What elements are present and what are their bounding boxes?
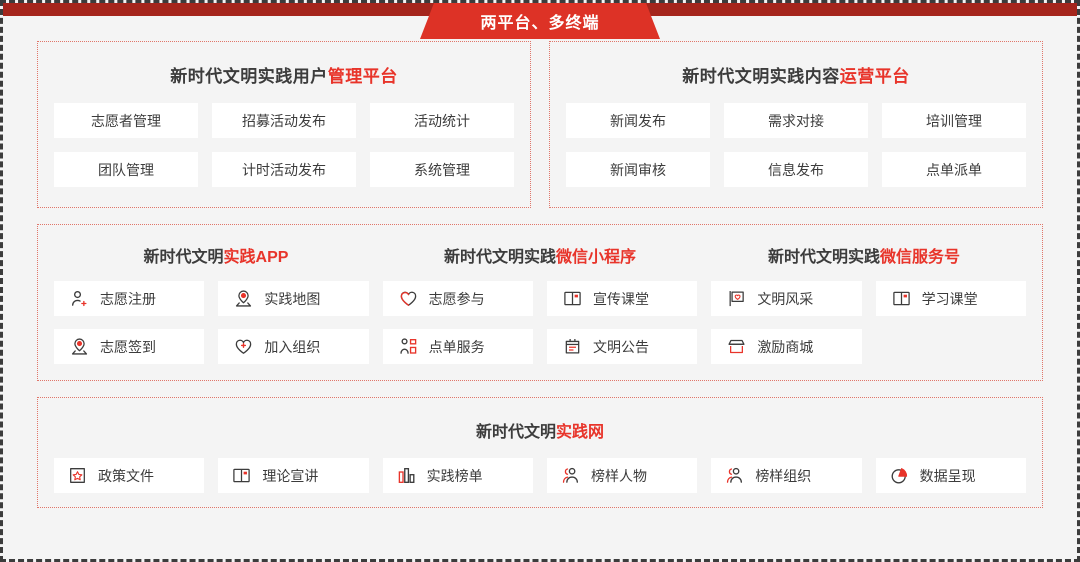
map-pin-icon	[70, 337, 89, 356]
terminal-feature[interactable]: 志愿注册	[54, 281, 204, 316]
terminal-feature-label: 点单服务	[429, 337, 485, 357]
terminal-heading-highlight: 实践APP	[224, 249, 289, 266]
platform-button-row: 团队管理 计时活动发布 系统管理	[54, 152, 514, 187]
website-feature-label: 榜样组织	[755, 466, 811, 486]
terminal-feature-label: 文明公告	[593, 337, 649, 357]
terminal-feature[interactable]: 文明风采	[711, 281, 861, 316]
terminal-heading-app: 新时代文明实践APP	[54, 237, 378, 281]
platform-title-management: 新时代文明实践用户管理平台	[54, 62, 514, 87]
platform-title-plain: 新时代文明实践内容	[682, 67, 840, 86]
bar-chart-icon	[397, 466, 416, 485]
terminal-heading-miniprogram: 新时代文明实践微信小程序	[378, 237, 702, 281]
website-feature-label: 实践榜单	[427, 466, 483, 486]
platform-button[interactable]: 新闻发布	[566, 103, 710, 138]
platforms-row: 新时代文明实践用户管理平台 志愿者管理 招募活动发布 活动统计 团队管理 计时活…	[37, 41, 1043, 208]
terminals-panel: 新时代文明实践APP 新时代文明实践微信小程序 新时代文明实践微信服务号 志愿注…	[37, 224, 1043, 381]
website-feature[interactable]: 数据呈现	[876, 458, 1026, 493]
terminals-headings: 新时代文明实践APP 新时代文明实践微信小程序 新时代文明实践微信服务号	[54, 237, 1026, 281]
flag-heart-icon	[727, 289, 746, 308]
platform-button-row: 志愿者管理 招募活动发布 活动统计	[54, 103, 514, 138]
map-pin-icon	[234, 289, 253, 308]
platform-title-highlight: 运营平台	[840, 67, 910, 86]
poster-canvas: 两平台、多终端 新时代文明实践用户管理平台 志愿者管理 招募活动发布 活动统计 …	[0, 0, 1080, 562]
website-feature[interactable]: 榜样人物	[547, 458, 697, 493]
people-pair-icon	[561, 466, 580, 485]
open-book-icon	[563, 289, 582, 308]
terminal-feature-row: 志愿签到 加入组织 点单服务 文明公告 激励商城	[54, 329, 1026, 364]
platform-title-operations: 新时代文明实践内容运营平台	[566, 62, 1026, 87]
terminal-feature[interactable]: 点单服务	[383, 329, 533, 364]
website-title: 新时代文明实践网	[54, 410, 1026, 458]
website-feature[interactable]: 实践榜单	[383, 458, 533, 493]
terminal-heading-highlight: 微信服务号	[880, 249, 960, 266]
poster-body: 新时代文明实践用户管理平台 志愿者管理 招募活动发布 活动统计 团队管理 计时活…	[3, 16, 1077, 559]
platform-button[interactable]: 志愿者管理	[54, 103, 198, 138]
terminal-heading-plain: 新时代文明实践	[768, 249, 880, 266]
platform-title-plain: 新时代文明实践用户	[170, 67, 328, 86]
terminal-feature[interactable]: 宣传课堂	[547, 281, 697, 316]
website-panel: 新时代文明实践网 政策文件 理论宣讲 实践榜单 榜样人物	[37, 397, 1043, 508]
platform-button[interactable]: 培训管理	[882, 103, 1026, 138]
platform-button-row: 新闻审核 信息发布 点单派单	[566, 152, 1026, 187]
two-people-icon	[399, 337, 418, 356]
platform-button[interactable]: 计时活动发布	[212, 152, 356, 187]
star-document-icon	[68, 466, 87, 485]
banner-label: 两平台、多终端	[480, 9, 599, 33]
terminal-feature-label: 志愿参与	[429, 289, 485, 309]
website-feature-label: 榜样人物	[591, 466, 647, 486]
platform-button[interactable]: 信息发布	[724, 152, 868, 187]
terminal-heading-plain: 新时代文明	[144, 249, 224, 266]
terminal-feature[interactable]: 实践地图	[218, 281, 368, 316]
terminal-feature-placeholder	[876, 329, 1026, 364]
terminal-feature-label: 志愿注册	[100, 289, 156, 309]
platform-button-row: 新闻发布 需求对接 培训管理	[566, 103, 1026, 138]
platform-button[interactable]: 点单派单	[882, 152, 1026, 187]
user-add-icon	[70, 289, 89, 308]
terminal-feature-label: 文明风采	[757, 289, 813, 309]
platform-button[interactable]: 团队管理	[54, 152, 198, 187]
terminal-feature[interactable]: 文明公告	[547, 329, 697, 364]
terminal-feature[interactable]: 志愿参与	[383, 281, 533, 316]
website-title-highlight: 实践网	[556, 424, 604, 441]
terminal-heading-highlight: 微信小程序	[556, 249, 636, 266]
terminal-feature-label: 实践地图	[264, 289, 320, 309]
platform-button[interactable]: 招募活动发布	[212, 103, 356, 138]
terminal-feature-row: 志愿注册 实践地图 志愿参与 宣传课堂 文明风采	[54, 281, 1026, 316]
platform-button[interactable]: 系统管理	[370, 152, 514, 187]
shop-icon	[727, 337, 746, 356]
heart-icon	[399, 289, 418, 308]
website-feature-label: 政策文件	[98, 466, 154, 486]
website-feature-label: 数据呈现	[920, 466, 976, 486]
banner-ribbon: 两平台、多终端	[420, 3, 660, 39]
clipboard-icon	[563, 337, 582, 356]
people-pair-icon	[725, 466, 744, 485]
terminal-feature[interactable]: 学习课堂	[876, 281, 1026, 316]
platform-panel-management: 新时代文明实践用户管理平台 志愿者管理 招募活动发布 活动统计 团队管理 计时活…	[37, 41, 531, 208]
platform-button[interactable]: 活动统计	[370, 103, 514, 138]
terminal-heading-plain: 新时代文明实践	[444, 249, 556, 266]
website-feature-label: 理论宣讲	[262, 466, 318, 486]
pie-chart-icon	[890, 466, 909, 485]
heart-plus-icon	[234, 337, 253, 356]
terminal-feature-label: 加入组织	[264, 337, 320, 357]
website-feature[interactable]: 理论宣讲	[218, 458, 368, 493]
open-book-icon	[232, 466, 251, 485]
platform-title-highlight: 管理平台	[328, 67, 398, 86]
terminal-feature-label: 学习课堂	[922, 289, 978, 309]
terminal-feature-label: 激励商城	[757, 337, 813, 357]
terminal-feature[interactable]: 加入组织	[218, 329, 368, 364]
terminal-feature-label: 志愿签到	[100, 337, 156, 357]
platform-button[interactable]: 需求对接	[724, 103, 868, 138]
terminal-heading-service-account: 新时代文明实践微信服务号	[702, 237, 1026, 281]
website-feature[interactable]: 榜样组织	[711, 458, 861, 493]
terminal-feature-label: 宣传课堂	[593, 289, 649, 309]
platform-button[interactable]: 新闻审核	[566, 152, 710, 187]
platform-panel-operations: 新时代文明实践内容运营平台 新闻发布 需求对接 培训管理 新闻审核 信息发布 点…	[549, 41, 1043, 208]
terminal-feature[interactable]: 激励商城	[711, 329, 861, 364]
website-feature[interactable]: 政策文件	[54, 458, 204, 493]
terminal-feature[interactable]: 志愿签到	[54, 329, 204, 364]
open-book-icon	[892, 289, 911, 308]
website-feature-row: 政策文件 理论宣讲 实践榜单 榜样人物 榜样组织	[54, 458, 1026, 493]
website-title-plain: 新时代文明	[476, 424, 556, 441]
